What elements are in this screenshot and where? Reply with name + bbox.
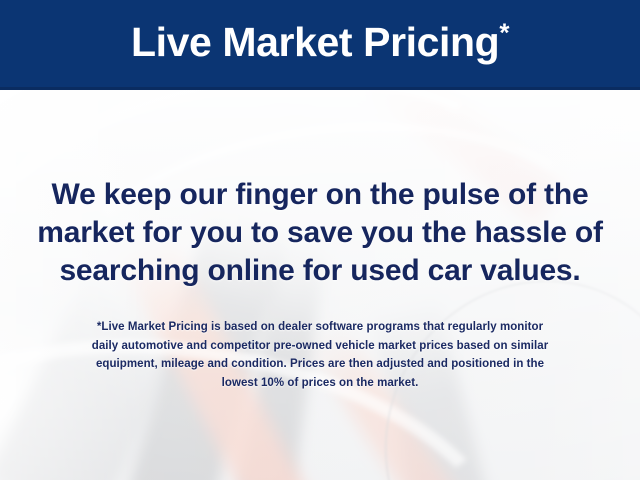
page-title: Live Market Pricing* xyxy=(131,22,509,65)
disclaimer-line-1: *Live Market Pricing is based on dealer … xyxy=(28,318,612,337)
headline-line-3: searching online for used car values. xyxy=(20,252,620,290)
disclaimer-line-4: lowest 10% of prices on the market. xyxy=(28,374,612,393)
header-bar: Live Market Pricing* xyxy=(0,0,640,90)
headline: We keep our finger on the pulse of the m… xyxy=(0,176,640,290)
disclaimer-line-3: equipment, mileage and condition. Prices… xyxy=(28,355,612,374)
live-market-pricing-banner: Live Market Pricing* We keep our finger … xyxy=(0,0,640,480)
headline-line-2: market for you to save you the hassle of xyxy=(20,214,620,252)
disclaimer-line-2: daily automotive and competitor pre-owne… xyxy=(28,337,612,356)
footnote-marker: * xyxy=(499,17,509,47)
page-title-text: Live Market Pricing xyxy=(131,19,499,65)
disclaimer-text: *Live Market Pricing is based on dealer … xyxy=(0,318,640,392)
headline-line-1: We keep our finger on the pulse of the xyxy=(20,176,620,214)
